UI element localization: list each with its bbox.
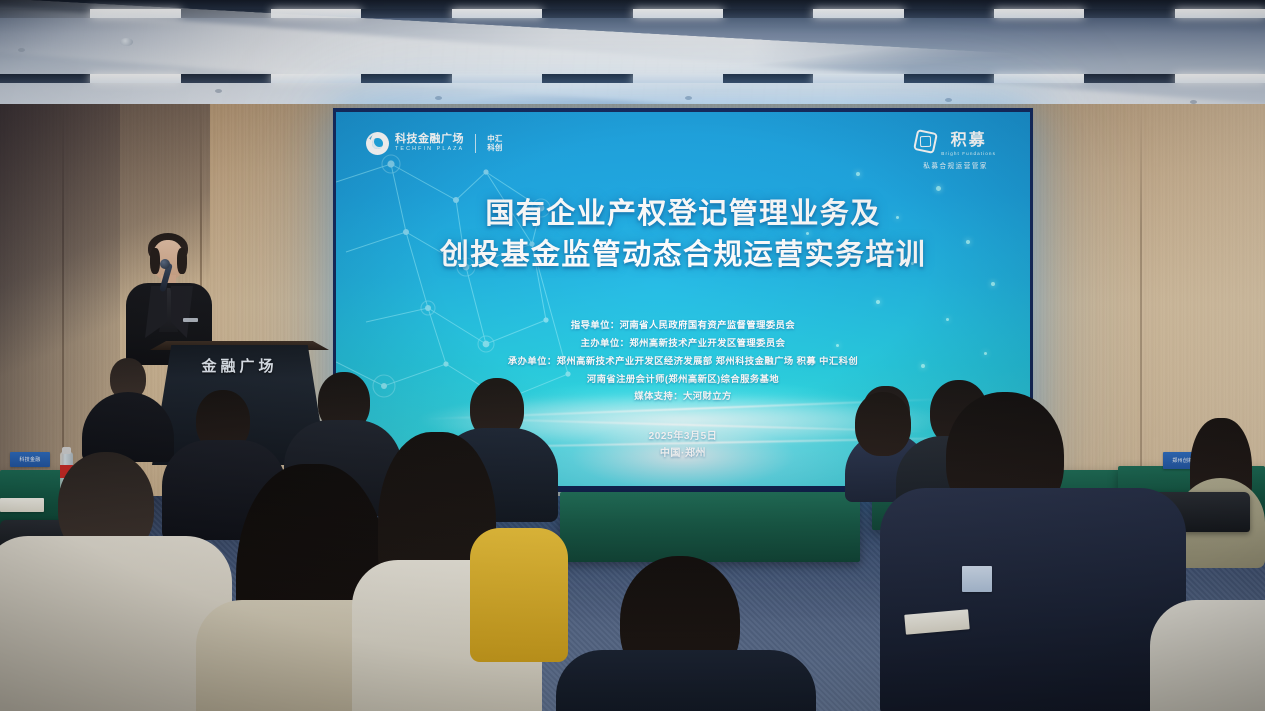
speaker-hair-side-left xyxy=(150,248,160,274)
techfin-logo-icon xyxy=(366,132,389,155)
title-line-2: 创投基金监管动态合规运营实务培训 xyxy=(336,235,1030,276)
conference-room-photo: 科技金融广场 TECHFIN PLAZA 中汇 科创 积募 Bright Fun… xyxy=(0,0,1265,711)
techfin-logo-en: TECHFIN PLAZA xyxy=(395,146,464,152)
info-line-media: 媒体支持：大河财立方 xyxy=(336,388,1030,406)
title-line-1: 国有企业产权登记管理业务及 xyxy=(336,194,1030,235)
table-row-back xyxy=(560,492,860,562)
jimu-logo-en: Bright Fundations xyxy=(941,151,996,156)
info-line-guidance: 指导单位：河南省人民政府国有资产监督管理委员会 xyxy=(336,317,1030,335)
name-card-label: 科技金融 xyxy=(19,456,40,463)
ceiling-light-row-2 xyxy=(0,74,1265,83)
sprinkler-icon xyxy=(945,98,952,102)
speaker-pocket-square xyxy=(183,318,198,322)
document-paper xyxy=(0,498,44,512)
name-card: 科技金融 xyxy=(10,452,50,467)
audience-torso-front xyxy=(1150,600,1265,711)
podium-label: 金融广场 xyxy=(152,355,327,376)
info-line-organizer-2: 河南省注册会计师(郑州高新区)综合服务基地 xyxy=(336,371,1030,389)
sprinkler-icon xyxy=(685,96,692,100)
techfin-logo-cn: 科技金融广场 xyxy=(395,134,464,146)
info-line-host: 主办单位：郑州高新技术产业开发区管理委员会 xyxy=(336,335,1030,353)
speaker-hair-side-right xyxy=(177,248,187,274)
sprinkler-icon xyxy=(435,96,442,100)
jimu-logo-cn: 积募 xyxy=(941,126,996,150)
bottle-cap xyxy=(62,447,71,454)
sprinkler-icon xyxy=(18,48,25,52)
screen-surface: 科技金融广场 TECHFIN PLAZA 中汇 科创 积募 Bright Fun… xyxy=(336,112,1030,486)
jimu-slogan: 私募合规运营管家 xyxy=(915,160,996,170)
audience-head xyxy=(855,392,911,456)
organizer-info: 指导单位：河南省人民政府国有资产监督管理委员会 主办单位：郑州高新技术产业开发区… xyxy=(336,317,1030,406)
audience-torso-front xyxy=(556,650,816,711)
info-line-organizer: 承办单位：郑州高新技术产业开发区经济发展部 郑州科技金融广场 积募 中汇科创 xyxy=(336,353,1030,371)
ceiling xyxy=(0,0,1265,112)
audience-scarf xyxy=(470,528,568,662)
sprinkler-icon xyxy=(215,89,222,93)
logo-divider xyxy=(475,134,476,153)
audience-torso-front xyxy=(880,488,1186,711)
presentation-title: 国有企业产权登记管理业务及 创投基金监管动态合规运营实务培训 xyxy=(336,194,1030,276)
logo-sub-line2: 科创 xyxy=(487,144,502,152)
name-card xyxy=(962,566,992,592)
techfin-plaza-logo: 科技金融广场 TECHFIN PLAZA 中汇 科创 xyxy=(366,132,503,155)
jimu-logo: 积募 Bright Fundations 私募合规运营管家 xyxy=(915,126,996,170)
zhonghui-kechuang-logo: 中汇 科创 xyxy=(487,135,502,152)
smoke-detector-icon xyxy=(120,38,133,46)
microphone-head-icon xyxy=(160,259,170,269)
cube-icon xyxy=(913,129,938,154)
